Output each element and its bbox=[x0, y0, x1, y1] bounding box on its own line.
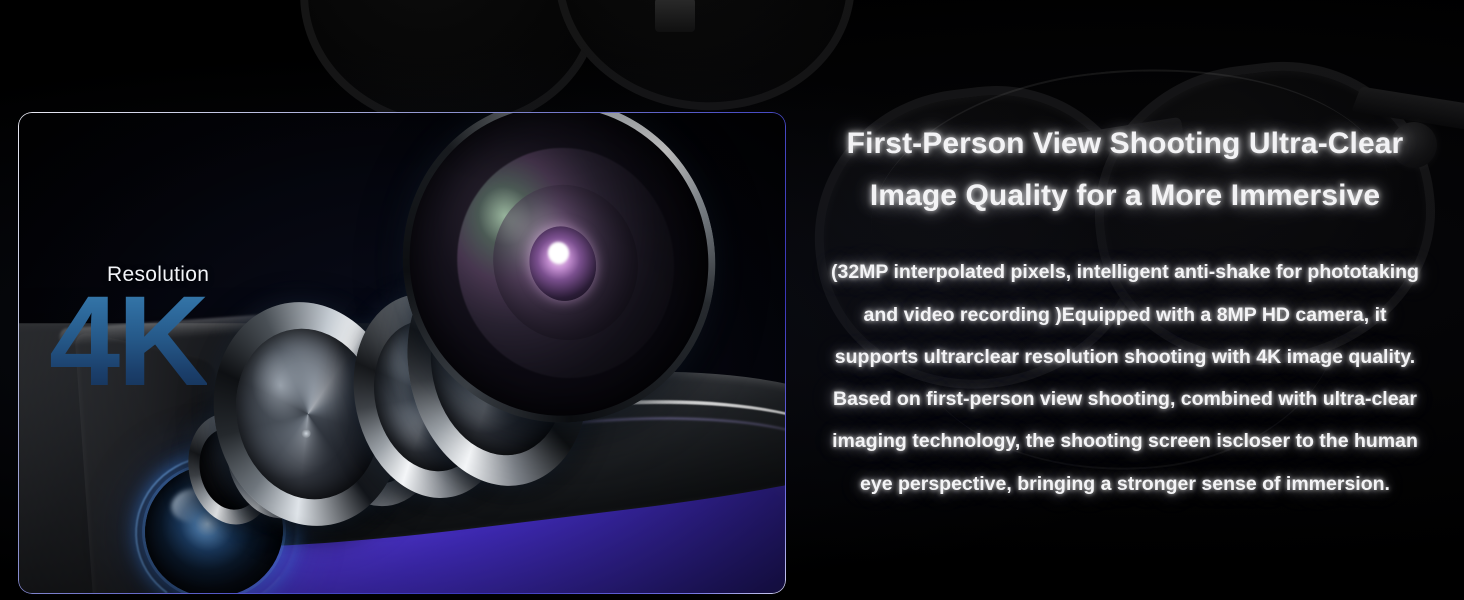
body-copy-line: eye perspective, bringing a stronger sen… bbox=[795, 463, 1455, 505]
product-image-panel: Resolution 4K bbox=[18, 112, 786, 594]
headline-line: Image Quality for a More Immersive bbox=[795, 170, 1455, 222]
headline-line: First-Person View Shooting Ultra-Clear bbox=[795, 118, 1455, 170]
glasses-lens-ring-icon bbox=[542, 0, 868, 125]
body-copy-line: imaging technology, the shooting screen … bbox=[795, 420, 1455, 462]
glasses-bridge bbox=[655, 0, 695, 32]
resolution-value: 4K bbox=[49, 281, 207, 403]
body-copy-line: (32MP interpolated pixels, intelligent a… bbox=[795, 251, 1455, 293]
marketing-copy-column: First-Person View Shooting Ultra-Clear I… bbox=[795, 118, 1455, 505]
body-copy-line: supports ultrarclear resolution shooting… bbox=[795, 336, 1455, 378]
headline: First-Person View Shooting Ultra-Clear I… bbox=[795, 118, 1455, 221]
body-copy-line: Based on first-person view shooting, com… bbox=[795, 378, 1455, 420]
product-feature-banner: Resolution 4K First-Person View Shooting… bbox=[0, 0, 1464, 600]
body-copy-line: and video recording )Equipped with a 8MP… bbox=[795, 294, 1455, 336]
body-copy: (32MP interpolated pixels, intelligent a… bbox=[795, 251, 1455, 505]
